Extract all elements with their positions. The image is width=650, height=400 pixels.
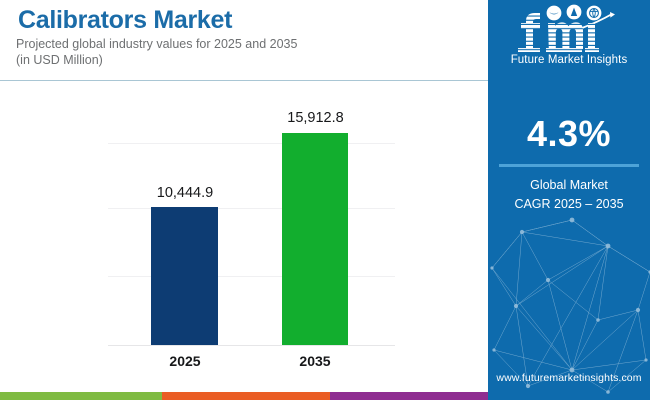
chart-header: Calibrators Market Projected global indu… (0, 0, 488, 81)
chart-subtitle-line-1: Projected global industry values for 202… (16, 36, 297, 52)
cagr-caption: Global Market CAGR 2025 – 2035 (488, 176, 650, 214)
cagr-callout: 4.3% Global Market CAGR 2025 – 2035 (488, 112, 650, 214)
gridline (108, 143, 395, 144)
cagr-value: 4.3% (488, 112, 650, 156)
page-title: Calibrators Market (18, 6, 232, 35)
bar-chart-plot: 10,444.9 15,912.8 2025 2035 (0, 81, 488, 387)
fmi-logo-tagline: Future Market Insights (488, 54, 650, 66)
chart-subtitle: Projected global industry values for 202… (16, 36, 297, 68)
website-url[interactable]: www.futuremarketinsights.com (488, 372, 650, 384)
cagr-divider (499, 164, 639, 167)
gridlines (0, 81, 488, 387)
infographic-root: Calibrators Market Projected global indu… (0, 0, 650, 400)
bar-value-label-2025: 10,444.9 (139, 185, 231, 201)
bar-value-label-2035: 15,912.8 (268, 110, 363, 126)
bar-2025[interactable] (151, 207, 218, 345)
stripe-segment-green (0, 392, 162, 400)
cagr-caption-line-2: CAGR 2025 – 2035 (488, 195, 650, 214)
chart-subtitle-line-2: (in USD Million) (16, 52, 297, 68)
x-axis-line (108, 345, 395, 346)
fmi-logo-mark (508, 4, 630, 52)
x-axis-label-2035: 2035 (269, 353, 361, 369)
stripe-segment-orange (162, 392, 330, 400)
logo-circle-icons (547, 5, 602, 21)
stripe-segment-purple (330, 392, 488, 400)
fmi-logo[interactable]: Future Market Insights (488, 4, 650, 66)
x-axis-label-2025: 2025 (139, 353, 231, 369)
bottom-color-stripe (0, 392, 488, 400)
brand-side-panel: Future Market Insights 4.3% Global Marke… (488, 0, 650, 400)
chart-panel: Calibrators Market Projected global indu… (0, 0, 488, 387)
fmi-wordmark-icon (508, 4, 630, 52)
cagr-caption-line-1: Global Market (488, 176, 650, 195)
bar-2035[interactable] (282, 133, 348, 345)
